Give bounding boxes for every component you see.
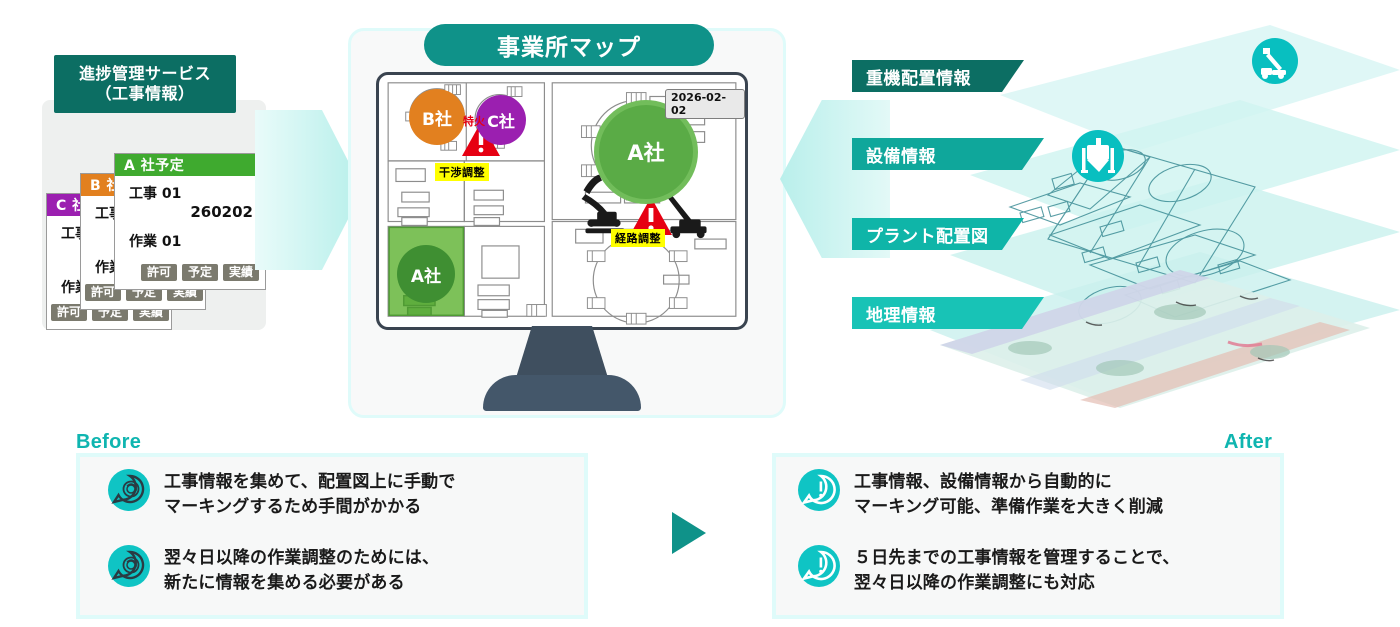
layer-tab-heavy-equipment-label: 重機配置情報 xyxy=(866,64,971,89)
before-label-text: Before xyxy=(76,431,141,453)
speech-exclamation-icon xyxy=(798,469,840,511)
panel-title: 進捗管理サービス （工事情報） xyxy=(54,55,236,113)
progress-service-panel: 進捗管理サービス （工事情報） C 社予定 工事 01 作業 01 許可 予定 … xyxy=(36,55,266,325)
speech-gear-icon-2 xyxy=(108,545,150,587)
schedule-card-a[interactable]: A 社予定 工事 01 260202 作業 01 許可 予定 実績 xyxy=(114,153,266,290)
before-item-2-text: 翌々日以降の作業調整のためには、 新たに情報を集める必要がある xyxy=(164,545,439,595)
after-label-text: After xyxy=(1224,431,1272,453)
layer-tab-facility[interactable]: 設備情報 xyxy=(852,138,1022,170)
company-badge-c-label: C社 xyxy=(487,108,515,132)
company-badge-b[interactable]: B社 xyxy=(409,89,465,145)
panel-title-line1: 進捗管理サービス xyxy=(79,64,211,84)
layer-tab-heavy-equipment[interactable]: 重機配置情報 xyxy=(852,60,1002,92)
company-badge-b-label: B社 xyxy=(422,105,452,130)
chip-permit-a[interactable]: 許可 xyxy=(141,264,177,281)
alert-label-kansho[interactable]: 干渉調整 xyxy=(435,163,489,181)
after-item-2: ５日先までの工事情報を管理することで、 翌々日以降の作業調整にも対応 xyxy=(798,545,1278,595)
monitor-screen[interactable]: B社 C社 A社 A社 2026-02-02 特火 干渉調整 経路調整 xyxy=(376,72,748,330)
plant-equipment-badge xyxy=(1072,130,1124,182)
company-badge-a-main-label: A社 xyxy=(627,137,664,167)
map-date-text: 2026-02-02 xyxy=(671,91,726,117)
before-item-1-text: 工事情報を集めて、配置図上に手動で マーキングするため手間がかかる xyxy=(164,469,456,519)
flow-arrow-right-icon xyxy=(255,110,363,270)
company-badge-a-small-label: A社 xyxy=(411,262,441,287)
speech-exclamation-icon-2 xyxy=(798,545,840,587)
after-item-1: 工事情報、設備情報から自動的に マーキング可能、準備作業を大きく削減 xyxy=(798,469,1278,519)
chip-actual-a[interactable]: 実績 xyxy=(223,264,259,281)
layer-tab-plant-layout-label: プラント配置図 xyxy=(866,222,989,247)
data-layers-diagram: 重機配置情報 設備情報 プラント配置図 地理情報 xyxy=(840,0,1400,400)
map-title-text: 事業所マップ xyxy=(497,28,641,62)
card-a-chips: 許可 予定 実績 xyxy=(141,264,259,281)
map-title-pill: 事業所マップ xyxy=(424,24,714,66)
layer-tab-plant-layout[interactable]: プラント配置図 xyxy=(852,218,1002,250)
layer-tab-facility-label: 設備情報 xyxy=(866,142,936,167)
after-item-1-text: 工事情報、設備情報から自動的に マーキング可能、準備作業を大きく削減 xyxy=(854,469,1163,519)
company-badge-a-small[interactable]: A社 xyxy=(397,245,455,303)
alert-note-tokka-text: 特火 xyxy=(463,115,485,128)
alert-note-tokka: 特火 xyxy=(463,113,485,129)
card-header-a: A 社予定 xyxy=(115,154,265,176)
card-body-a: 工事 01 260202 作業 01 xyxy=(115,176,265,251)
card-a-line1: 工事 01 xyxy=(129,183,257,203)
chip-plan-a[interactable]: 予定 xyxy=(182,264,218,281)
after-item-2-text: ５日先までの工事情報を管理することで、 翌々日以降の作業調整にも対応 xyxy=(854,545,1180,595)
card-a-number: 260202 xyxy=(129,203,257,221)
layer-tab-geographic-label: 地理情報 xyxy=(866,301,936,326)
panel-title-line2: （工事情報） xyxy=(95,84,194,104)
before-label: Before xyxy=(76,431,141,454)
after-label: After xyxy=(1224,431,1272,454)
before-item-1: 工事情報を集めて、配置図上に手動で マーキングするため手間がかかる xyxy=(108,469,578,519)
monitor-stand-base xyxy=(483,375,641,411)
speech-gear-icon xyxy=(108,469,150,511)
map-date-chip[interactable]: 2026-02-02 xyxy=(665,89,745,119)
crane-truck-icon xyxy=(1252,38,1298,84)
layer-tab-geographic[interactable]: 地理情報 xyxy=(852,297,1022,329)
before-item-2: 翌々日以降の作業調整のためには、 新たに情報を集める必要がある xyxy=(108,545,578,595)
transition-arrow-icon xyxy=(672,512,706,554)
alert-label-keiro-text: 経路調整 xyxy=(615,232,661,245)
crane-truck-badge xyxy=(1252,38,1298,84)
plant-equipment-icon xyxy=(1072,130,1124,182)
card-a-line2: 作業 01 xyxy=(129,231,257,251)
alert-label-kansho-text: 干渉調整 xyxy=(439,166,485,179)
alert-label-keiro[interactable]: 経路調整 xyxy=(611,229,665,247)
